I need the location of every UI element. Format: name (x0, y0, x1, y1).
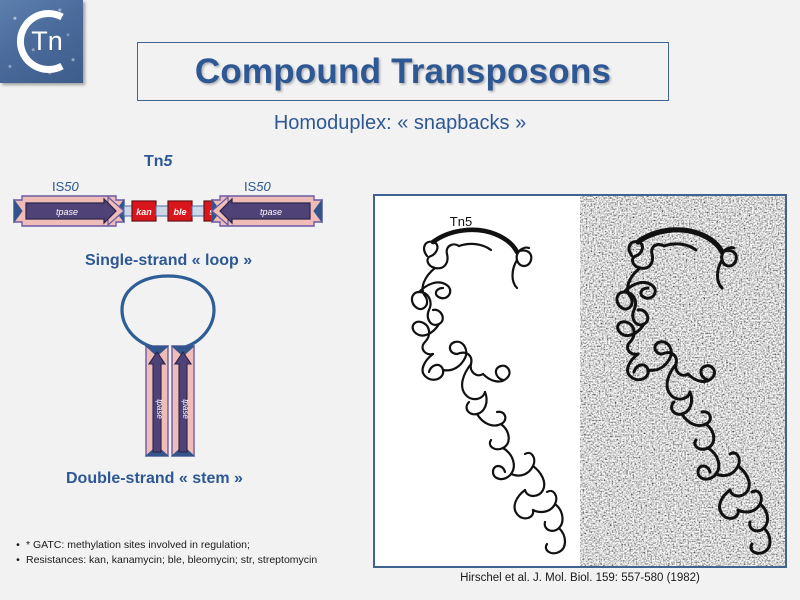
bullet-glyph-icon: • (10, 538, 26, 553)
tpase-stem-left-text: tpase (155, 399, 164, 419)
tn5-genetic-map: tpase kan ble str tpase (12, 194, 324, 233)
tpase-left-text: tpase (56, 207, 78, 217)
ctn-logo: Tn (0, 0, 83, 83)
notes-list: • * GATC: methylation sites involved in … (10, 538, 370, 568)
is50-left-label: IS50 (52, 179, 79, 194)
logo-inner-letters: Tn (31, 26, 63, 56)
tpase-stem-right-text: tpase (181, 399, 190, 419)
list-item: • Resistances: kan, kanamycin; ble, bleo… (10, 553, 370, 568)
electron-micrograph-panel: Tn5 (373, 194, 787, 568)
list-item: • * GATC: methylation sites involved in … (10, 538, 370, 553)
is50-left-element: tpase (14, 196, 124, 226)
is50-right-element: tpase (212, 196, 322, 226)
tpase-right-text: tpase (260, 207, 282, 217)
figure-citation: Hirschel et al. J. Mol. Biol. 159: 557-5… (373, 572, 787, 584)
loop-caption: Single-strand « loop » (85, 252, 252, 270)
page-title-box: Compound Transposons (137, 42, 669, 101)
single-strand-loop (122, 276, 214, 348)
bullet-glyph-icon: • (10, 553, 26, 568)
tn5-heading: Tn5 (144, 153, 172, 171)
page-title: Compound Transposons (195, 52, 611, 92)
snapback-structure-diagram: tpase tpase (60, 272, 290, 467)
note-text: Resistances: kan, kanamycin; ble, bleomy… (26, 553, 317, 568)
gene-kan-label: kan (136, 207, 152, 217)
is50-right-label: IS50 (244, 179, 271, 194)
note-text: * GATC: methylation sites involved in re… (26, 538, 250, 553)
tn5-annotation-label: Tn5 (450, 214, 472, 229)
stem-caption: Double-strand « stem » (66, 470, 243, 488)
gene-ble-label: ble (173, 207, 186, 217)
stem-strand-left: tpase (146, 346, 168, 456)
stem-strand-right: tpase (172, 346, 194, 456)
page-subtitle: Homoduplex: « snapbacks » (0, 112, 800, 135)
